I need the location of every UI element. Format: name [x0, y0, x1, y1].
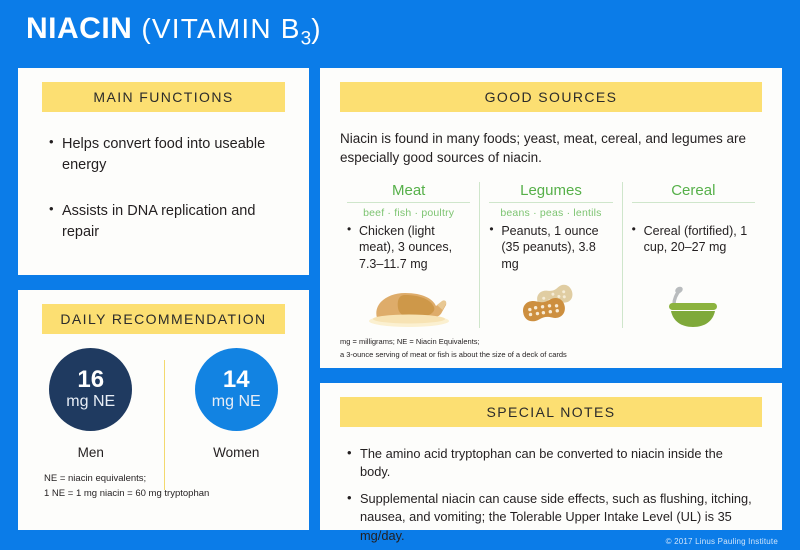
card-daily-recommendation: DAILY RECOMMENDATION 16 mg NE Men 14 mg …	[18, 290, 309, 530]
food-column-item: Peanuts, 1 ounce (35 peanuts), 3.8 mg	[489, 223, 612, 273]
food-column-cereal: Cereal Cereal (fortified), 1 cup, 20–27 …	[622, 182, 764, 328]
footnote-line: a 3-ounce serving of meat or fish is abo…	[340, 349, 782, 362]
page-title-sub-digit: 3	[301, 29, 312, 50]
food-column-item: Chicken (light meat), 3 ounces, 7.3–11.7…	[347, 223, 470, 273]
page-title-subtitle: (VITAMIN B3)	[141, 13, 321, 51]
cereal-bowl-icon	[623, 282, 764, 328]
food-column-title: Cereal	[632, 182, 755, 203]
special-notes-list: The amino acid tryptophan can be convert…	[346, 445, 754, 545]
dose-label: Women	[176, 445, 296, 460]
main-functions-list: Helps convert food into useable energy A…	[48, 134, 283, 242]
dose-value: 14	[223, 368, 250, 392]
card-good-sources: GOOD SOURCES Niacin is found in many foo…	[320, 68, 782, 368]
dose-unit: mg NE	[66, 393, 115, 411]
dose-label: Men	[31, 445, 151, 460]
footnote-line: mg = milligrams; NE = Niacin Equivalents…	[340, 336, 782, 349]
food-column-title: Meat	[347, 182, 470, 203]
page-title-main: NIACIN	[26, 12, 132, 46]
vertical-divider	[164, 360, 165, 490]
roast-chicken-icon	[338, 282, 479, 328]
list-item: Assists in DNA replication and repair	[48, 201, 283, 242]
footnote-line: NE = niacin equivalents;	[44, 472, 309, 487]
good-sources-intro: Niacin is found in many foods; yeast, me…	[340, 130, 758, 168]
recommendation-entry-women: 14 mg NE Women	[176, 348, 296, 460]
recommendation-entry-men: 16 mg NE Men	[31, 348, 151, 460]
food-column-subtitle	[632, 207, 755, 220]
daily-recommendation-header: DAILY RECOMMENDATION	[42, 304, 285, 334]
dose-circle-men: 16 mg NE	[49, 348, 132, 431]
food-column-item: Cereal (fortified), 1 cup, 20–27 mg	[632, 223, 755, 256]
dose-value: 16	[77, 368, 104, 392]
list-item: The amino acid tryptophan can be convert…	[346, 445, 754, 481]
page-title-sub-close: )	[311, 13, 322, 44]
dose-circle-women: 14 mg NE	[195, 348, 278, 431]
food-source-columns: Meat beef · fish · poultry Chicken (ligh…	[338, 182, 764, 328]
dose-unit: mg NE	[212, 393, 261, 411]
page-title-sub-open: (VITAMIN B	[141, 13, 300, 44]
good-sources-header: GOOD SOURCES	[340, 82, 762, 112]
daily-recommendation-footnote: NE = niacin equivalents; 1 NE = 1 mg nia…	[44, 472, 309, 501]
food-column-legumes: Legumes beans · peas · lentils Peanuts, …	[479, 182, 621, 328]
main-functions-header: MAIN FUNCTIONS	[42, 82, 285, 112]
peanuts-icon	[480, 282, 621, 328]
food-column-meat: Meat beef · fish · poultry Chicken (ligh…	[338, 182, 479, 328]
card-main-functions: MAIN FUNCTIONS Helps convert food into u…	[18, 68, 309, 275]
food-column-subtitle: beans · peas · lentils	[489, 207, 612, 220]
list-item: Helps convert food into useable energy	[48, 134, 283, 175]
food-column-title: Legumes	[489, 182, 612, 203]
daily-recommendation-circles: 16 mg NE Men 14 mg NE Women	[18, 358, 309, 450]
good-sources-footnote: mg = milligrams; NE = Niacin Equivalents…	[340, 336, 782, 362]
card-special-notes: SPECIAL NOTES The amino acid tryptophan …	[320, 383, 782, 530]
food-column-subtitle: beef · fish · poultry	[347, 207, 470, 220]
page-title: NIACIN (VITAMIN B3)	[26, 12, 322, 51]
copyright-notice: © 2017 Linus Pauling Institute	[666, 537, 778, 546]
footnote-line: 1 NE = 1 mg niacin = 60 mg tryptophan	[44, 487, 309, 502]
special-notes-header: SPECIAL NOTES	[340, 397, 762, 427]
